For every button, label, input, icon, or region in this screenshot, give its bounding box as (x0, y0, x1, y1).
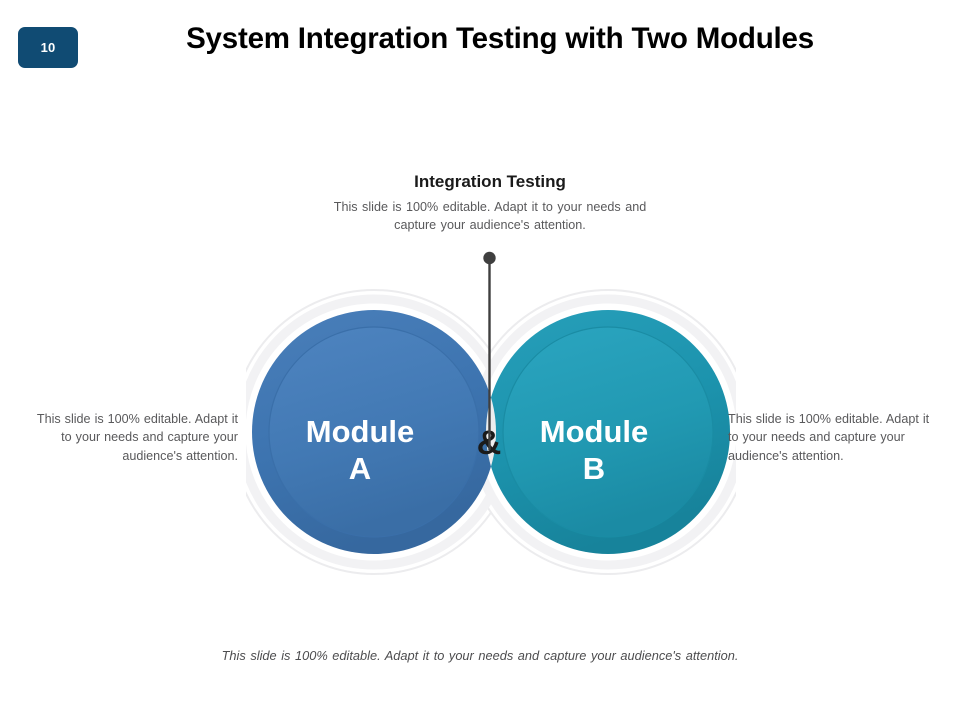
venn-diagram: Module A Module B & (246, 282, 736, 582)
module-a-label-line2: A (349, 451, 371, 486)
caption-bottom: This slide is 100% editable. Adapt it to… (0, 648, 960, 663)
caption-right: This slide is 100% editable. Adapt it to… (728, 410, 940, 465)
module-b-label-line1: Module (540, 414, 649, 449)
slide-number-badge: 10 (18, 27, 78, 68)
center-heading-block: Integration Testing This slide is 100% e… (320, 172, 660, 235)
slide-canvas: 10 System Integration Testing with Two M… (0, 0, 960, 720)
caption-left: This slide is 100% editable. Adapt it to… (26, 410, 238, 465)
integration-testing-subtext: This slide is 100% editable. Adapt it to… (320, 199, 660, 235)
page-title: System Integration Testing with Two Modu… (100, 22, 900, 56)
integration-testing-heading: Integration Testing (320, 172, 660, 192)
slide-number-label: 10 (41, 41, 56, 54)
module-b-label-line2: B (583, 451, 605, 486)
module-a-label-line1: Module (306, 414, 415, 449)
intersection-ampersand: & (477, 424, 502, 462)
venn-svg: Module A Module B & (246, 282, 736, 582)
connector-dot-icon (483, 252, 495, 264)
